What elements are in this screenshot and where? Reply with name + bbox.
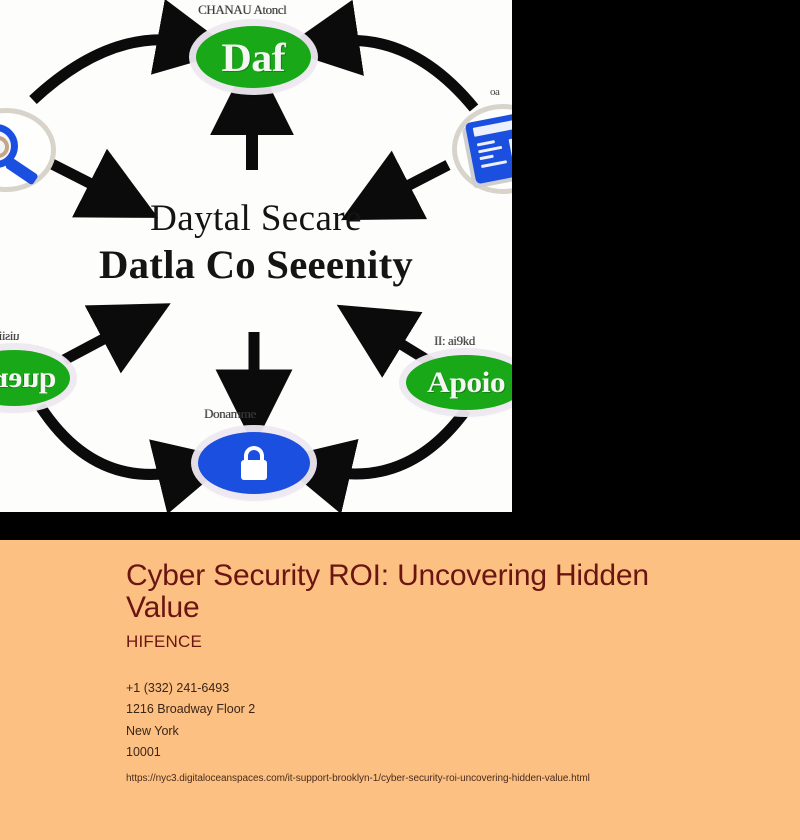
- tablet-screen-bar: [509, 138, 512, 163]
- tablet-screen-line: [477, 140, 495, 146]
- node-top-ellipse: Daf: [196, 26, 311, 88]
- hero-band: Daytal Secare Datla Co Seeenity oa: [0, 0, 800, 540]
- arrow-rightnode-to-bottom: [322, 410, 466, 474]
- node-bottom-ellipse: [198, 432, 310, 494]
- arrow-right-to-center: [384, 165, 448, 198]
- node-top-label: Daf: [222, 34, 286, 81]
- tablet-screen-line: [481, 160, 507, 168]
- contact-street: 1216 Broadway Floor 2: [126, 699, 760, 721]
- padlock-icon: [239, 446, 269, 480]
- diagram-canvas: Daytal Secare Datla Co Seeenity oa: [0, 0, 512, 512]
- arrow-left-to-top: [33, 40, 186, 100]
- node-left-ellipse: querig: [0, 350, 70, 406]
- arrow-leftnode-to-center: [64, 326, 128, 360]
- tablet-device-icon: oa: [452, 104, 512, 196]
- diagram-node-bottom: Donamme: [198, 432, 310, 494]
- node-left-label: querig: [0, 361, 56, 395]
- arrow-left-to-center: [50, 163, 115, 196]
- footer-card: Cyber Security ROI: Uncovering Hidden Va…: [0, 540, 800, 840]
- magnifying-glass-icon: [0, 108, 58, 194]
- node-right-label: Apoio: [427, 366, 505, 400]
- node-bottom-caption: Donamme: [204, 406, 255, 422]
- tablet-screen-line: [479, 155, 493, 161]
- node-right-ellipse: Apoio: [406, 355, 512, 410]
- node-top-caption: CHANAU Atoncl: [198, 2, 286, 18]
- page-root: Daytal Secare Datla Co Seeenity oa: [0, 0, 800, 840]
- brand-name: HIFENCE: [126, 632, 760, 652]
- page-title: Cyber Security ROI: Uncovering Hidden Va…: [126, 560, 726, 624]
- contact-city: New York: [126, 721, 760, 743]
- diagram-node-left: uisiii querig: [0, 350, 70, 406]
- diagram-node-right: II: ai9kd Apoio: [406, 355, 512, 410]
- node-right-caption: II: ai9kd: [434, 333, 475, 349]
- node-left-caption: uisiii: [0, 328, 20, 344]
- contact-block: +1 (332) 241-6493 1216 Broadway Floor 2 …: [126, 678, 760, 787]
- footer-content: Cyber Security ROI: Uncovering Hidden Va…: [126, 560, 760, 787]
- contact-phone[interactable]: +1 (332) 241-6493: [126, 678, 760, 700]
- tablet-screen-line: [478, 146, 502, 154]
- arrow-right-to-top: [330, 40, 474, 108]
- source-url-link[interactable]: https://nyc3.digitaloceanspaces.com/it-s…: [126, 770, 760, 787]
- tablet-screen-titlebar: [473, 117, 512, 137]
- diagram-node-top: CHANAU Atoncl Daf: [196, 26, 311, 88]
- padlock-body: [241, 460, 267, 480]
- arrow-leftnode-to-bottom: [40, 406, 186, 474]
- hero-illustration: Daytal Secare Datla Co Seeenity oa: [0, 0, 512, 512]
- tablet-caption: oa: [490, 86, 499, 98]
- contact-zip: 10001: [126, 742, 760, 764]
